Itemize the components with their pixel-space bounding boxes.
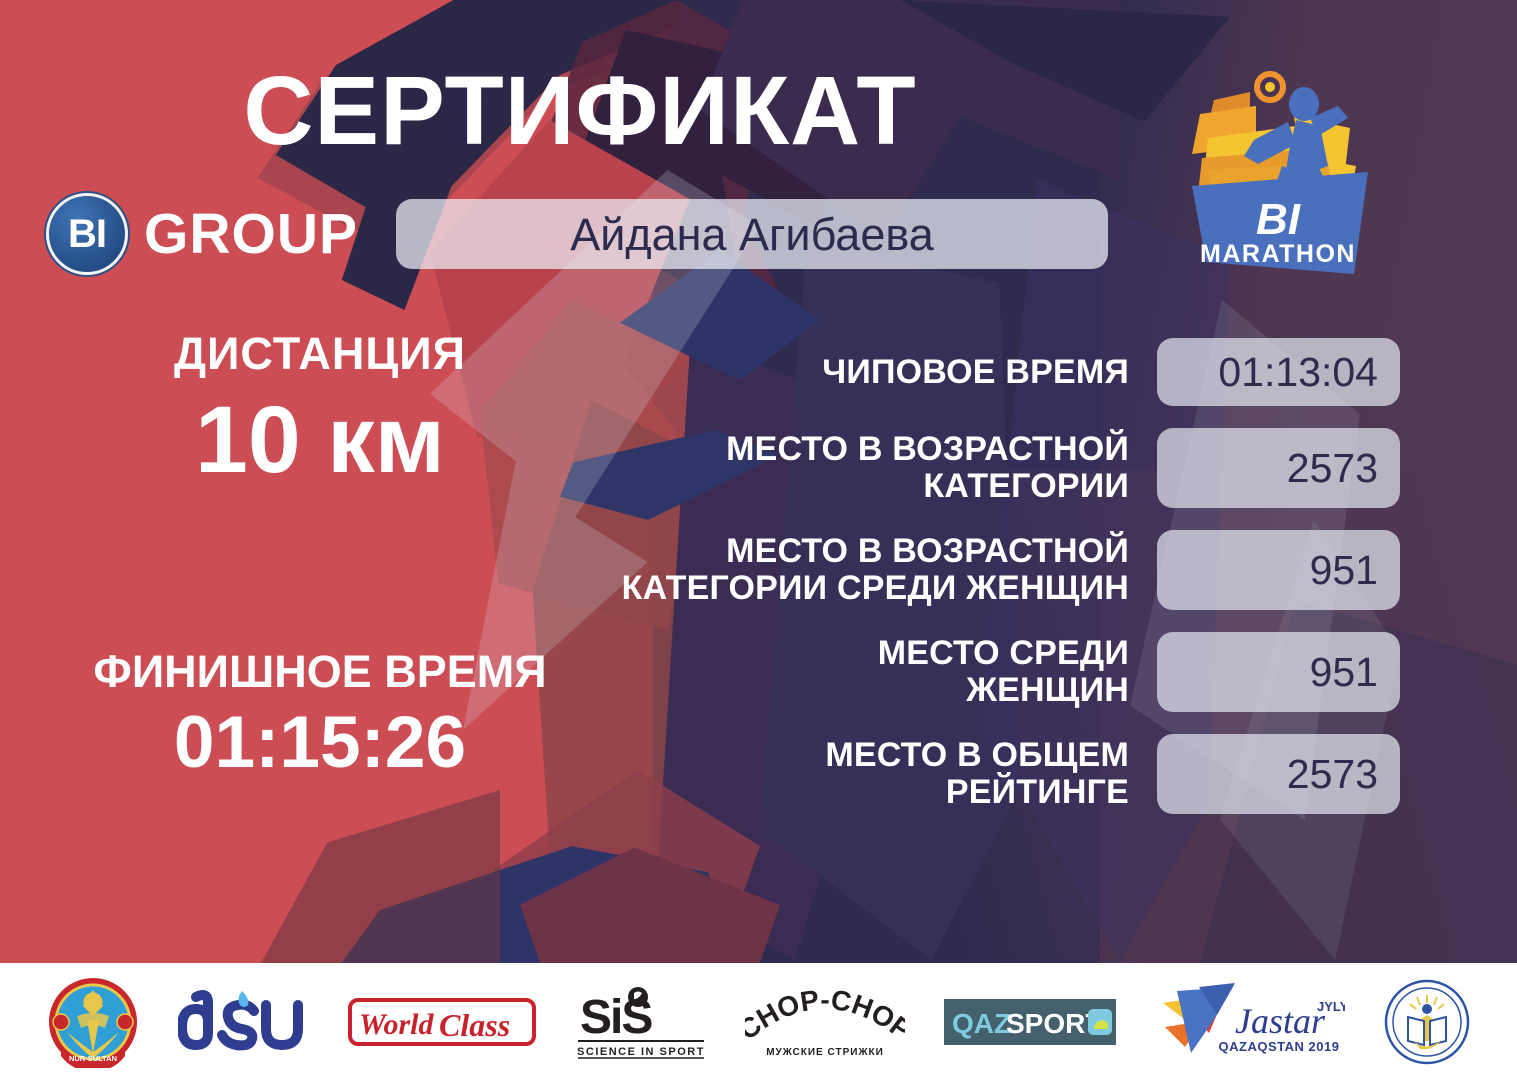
marathon-logo-bi-text: BI <box>1256 195 1301 244</box>
sponsor-logo-chop-chop: CHOP-CHOP МУЖСКИЕ СТРИЖКИ <box>745 974 905 1070</box>
stat-label: ЧИПОВОЕ ВРЕМЯ <box>520 354 1129 391</box>
stat-label: МЕСТО СРЕДИ ЖЕНЩИН <box>520 635 1129 708</box>
sponsor-logo-qazsport: QAZ SPORT <box>944 974 1116 1070</box>
chop-chop-logo-icon: CHOP-CHOP МУЖСКИЕ СТРИЖКИ <box>745 985 905 1059</box>
jastar-wordmark: Jastar <box>1235 1001 1326 1041</box>
sponsor-logo-asu <box>178 974 308 1070</box>
qazsport-logo-icon: QAZ SPORT <box>944 999 1116 1045</box>
sponsor-bar: NUR-SULTAN World Class SiS <box>0 963 1517 1080</box>
sponsor-logo-world-class: World Class <box>347 974 537 1070</box>
bi-group-wordmark: GROUP <box>144 206 358 263</box>
stat-value: 2573 <box>1287 448 1378 489</box>
stat-value: 2573 <box>1287 754 1378 795</box>
chop-chop-tagline: МУЖСКИЕ СТРИЖКИ <box>766 1047 884 1058</box>
sponsor-logo-ministry <box>1384 974 1470 1070</box>
stat-row: МЕСТО В ОБЩЕМ РЕЙТИНГЕ 2573 <box>520 734 1400 814</box>
ministry-emblem-icon <box>1384 979 1470 1065</box>
bi-marathon-logo: BI MARATHON <box>1178 62 1388 302</box>
qazsport-word-sport: SPORT <box>1006 1008 1102 1039</box>
stat-value: 951 <box>1310 652 1378 693</box>
asu-logo-icon <box>178 989 308 1055</box>
stat-value-pill: 2573 <box>1157 734 1400 814</box>
sponsor-logo-sis: SiS SCIENCE IN SPORT <box>576 974 706 1070</box>
stat-value: 951 <box>1310 550 1378 591</box>
athlete-name: Айдана Агибаева <box>570 212 934 257</box>
world-class-word-world: World <box>359 1008 434 1041</box>
bi-group-logo: BI GROUP <box>46 193 358 275</box>
bi-marathon-logo-icon: BI MARATHON <box>1178 62 1388 302</box>
page-title: СЕРТИФИКАТ <box>0 62 1160 159</box>
world-class-logo-icon: World Class <box>347 990 537 1054</box>
stat-row: МЕСТО СРЕДИ ЖЕНЩИН 951 <box>520 632 1400 712</box>
stat-label: МЕСТО В ВОЗРАСТНОЙ КАТЕГОРИИ СРЕДИ ЖЕНЩИ… <box>520 533 1129 606</box>
jastar-logo-icon: Jastar JYLY QAZAQSTAN 2019 <box>1155 981 1345 1063</box>
bi-roundel-label: BI <box>68 214 106 254</box>
stat-row: МЕСТО В ВОЗРАСТНОЙ КАТЕГОРИИ СРЕДИ ЖЕНЩИ… <box>520 530 1400 610</box>
certificate-page: СЕРТИФИКАТ BI GROUP Айдана Агибаева <box>0 0 1517 1080</box>
jastar-jyly: JYLY <box>1317 999 1345 1014</box>
stat-row: ЧИПОВОЕ ВРЕМЯ 01:13:04 <box>520 338 1400 406</box>
sis-logo-icon: SiS SCIENCE IN SPORT <box>576 985 706 1059</box>
nur-sultan-emblem-icon: NUR-SULTAN <box>47 976 139 1068</box>
qazsport-word-qaz: QAZ <box>952 1008 1011 1039</box>
sis-tagline: SCIENCE IN SPORT <box>577 1046 705 1058</box>
jastar-qazaqstan-2019: QAZAQSTAN 2019 <box>1218 1039 1339 1054</box>
stat-value-pill: 2573 <box>1157 428 1400 508</box>
nur-sultan-label: NUR-SULTAN <box>69 1054 117 1063</box>
athlete-name-field: Айдана Агибаева <box>396 199 1108 269</box>
marathon-logo-marathon-text: MARATHON <box>1200 240 1356 268</box>
world-class-word-class: Class <box>439 1007 510 1043</box>
stat-value-pill: 951 <box>1157 632 1400 712</box>
bi-roundel-icon: BI <box>46 193 128 275</box>
stat-label: МЕСТО В ОБЩЕМ РЕЙТИНГЕ <box>520 737 1129 810</box>
sponsor-logo-nur-sultan: NUR-SULTAN <box>47 974 139 1070</box>
stat-row: МЕСТО В ВОЗРАСТНОЙ КАТЕГОРИИ 2573 <box>520 428 1400 508</box>
stat-label: МЕСТО В ВОЗРАСТНОЙ КАТЕГОРИИ <box>520 431 1129 504</box>
stat-value-pill: 951 <box>1157 530 1400 610</box>
stats-list: ЧИПОВОЕ ВРЕМЯ 01:13:04 МЕСТО В ВОЗРАСТНО… <box>520 338 1400 836</box>
stat-value-pill: 01:13:04 <box>1157 338 1400 406</box>
stat-value: 01:13:04 <box>1218 352 1378 393</box>
sponsor-logo-jastar: Jastar JYLY QAZAQSTAN 2019 <box>1155 974 1345 1070</box>
chop-chop-wordmark: CHOP-CHOP <box>745 985 905 1046</box>
